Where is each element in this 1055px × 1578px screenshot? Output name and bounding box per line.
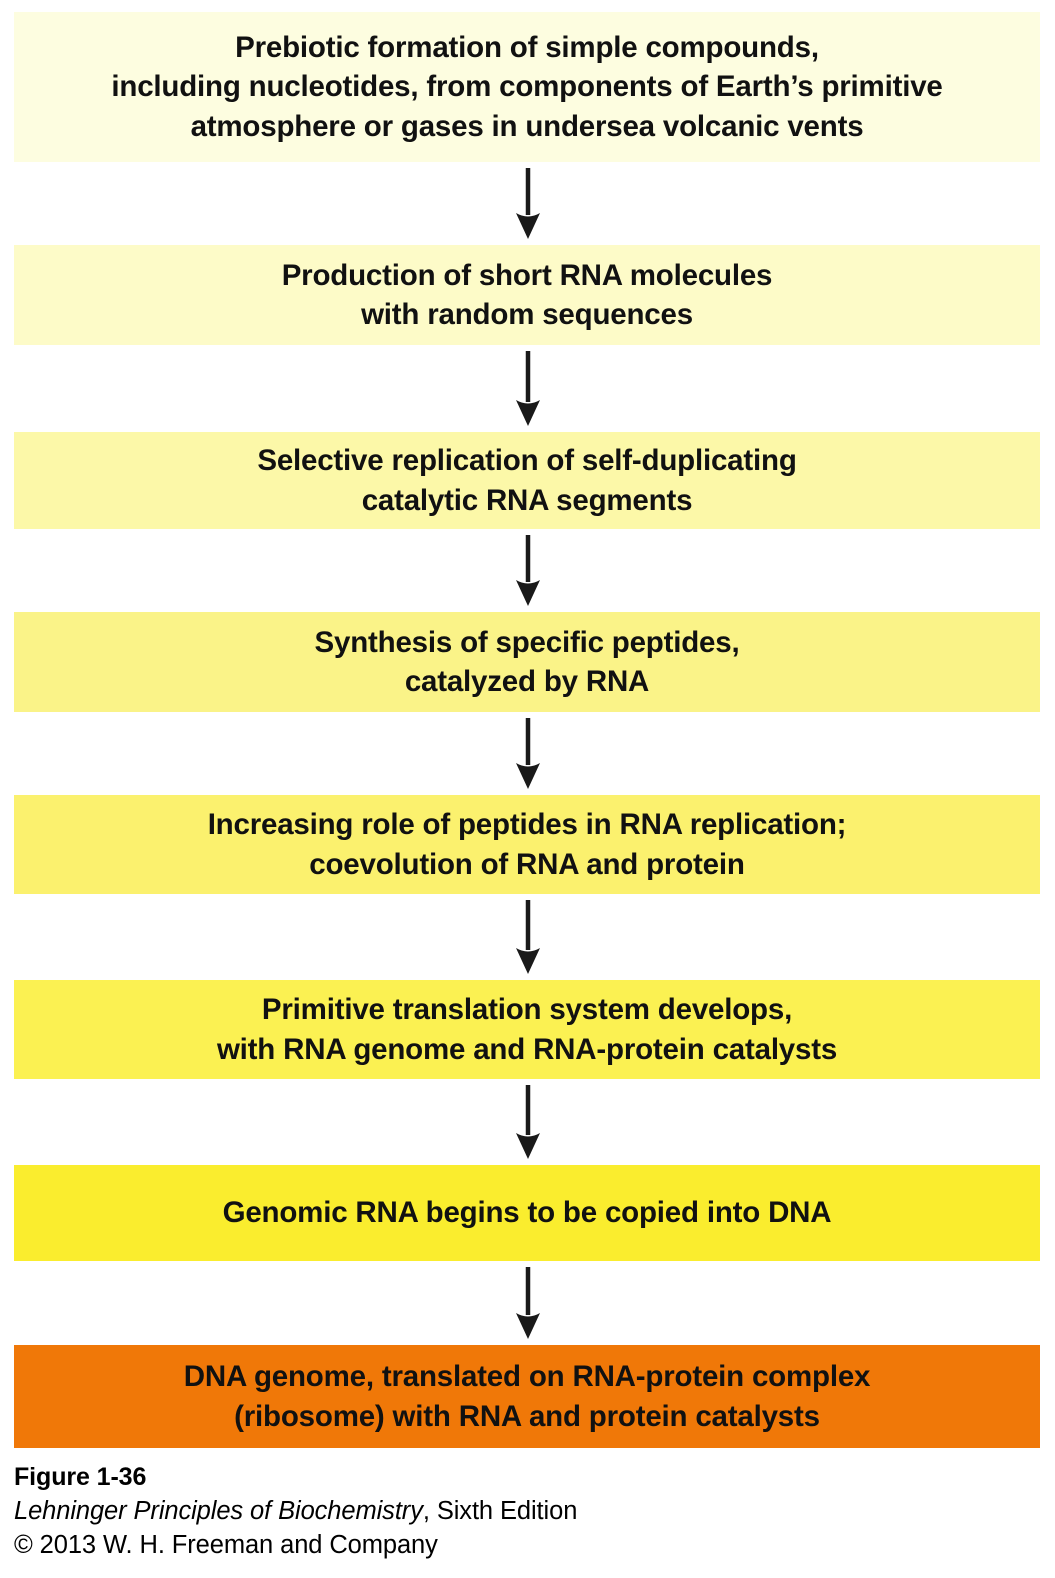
flow-step-label-8: DNA genome, translated on RNA-protein co… — [170, 1357, 885, 1435]
figure-container: Prebiotic formation of simple compounds,… — [0, 0, 1055, 1578]
flow-step-label-4: Synthesis of specific peptides, catalyze… — [301, 623, 754, 701]
down-arrow-icon — [0, 894, 1055, 980]
down-arrow-icon — [0, 1079, 1055, 1165]
down-arrow-icon — [0, 162, 1055, 245]
flow-step-label-2: Production of short RNA molecules with r… — [268, 256, 787, 334]
flow-step-label-1: Prebiotic formation of simple compounds,… — [97, 28, 956, 146]
flow-step-box-8: DNA genome, translated on RNA-protein co… — [14, 1345, 1040, 1448]
flow-step-label-6: Primitive translation system develops, w… — [203, 990, 851, 1068]
flow-step-label-7: Genomic RNA begins to be copied into DNA — [209, 1193, 846, 1232]
figure-caption: Figure 1-36 Lehninger Principles of Bioc… — [14, 1461, 1040, 1562]
flow-step-box-3: Selective replication of self-duplicatin… — [14, 432, 1040, 529]
book-edition: , Sixth Edition — [423, 1497, 577, 1525]
down-arrow-icon — [0, 529, 1055, 612]
flow-step-box-4: Synthesis of specific peptides, catalyze… — [14, 612, 1040, 712]
flow-step-label-3: Selective replication of self-duplicatin… — [243, 441, 810, 519]
figure-source: Lehninger Principles of Biochemistry, Si… — [14, 1494, 1040, 1528]
flow-step-box-7: Genomic RNA begins to be copied into DNA — [14, 1165, 1040, 1261]
down-arrow-icon — [0, 1261, 1055, 1345]
flow-step-box-2: Production of short RNA molecules with r… — [14, 245, 1040, 345]
copyright-line: © 2013 W. H. Freeman and Company — [14, 1528, 1040, 1562]
flow-step-label-5: Increasing role of peptides in RNA repli… — [194, 805, 861, 883]
flow-step-box-5: Increasing role of peptides in RNA repli… — [14, 795, 1040, 894]
down-arrow-icon — [0, 345, 1055, 432]
figure-number: Figure 1-36 — [14, 1461, 1040, 1494]
flow-step-box-1: Prebiotic formation of simple compounds,… — [14, 12, 1040, 162]
flow-step-box-6: Primitive translation system develops, w… — [14, 980, 1040, 1079]
down-arrow-icon — [0, 712, 1055, 795]
book-title: Lehninger Principles of Biochemistry — [14, 1497, 423, 1525]
